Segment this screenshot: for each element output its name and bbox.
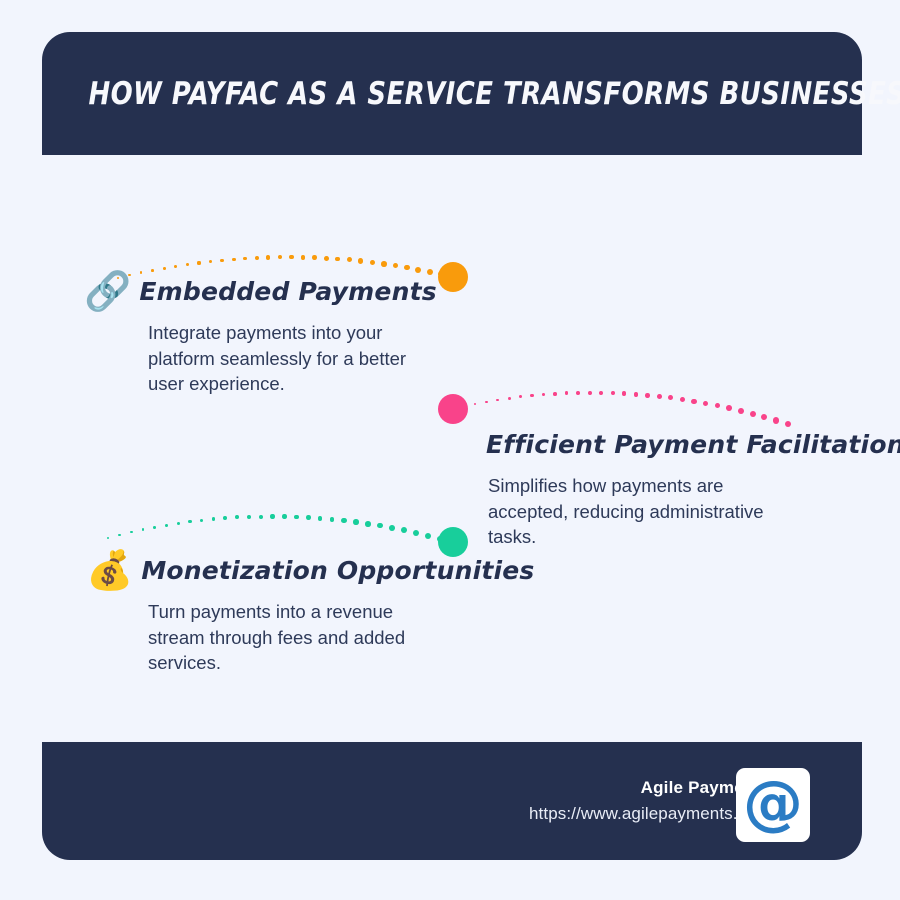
feature-block-embedded-payments: 🔗 Embedded Payments Integrate payments i… — [84, 272, 438, 397]
teal-arc-dot — [306, 515, 311, 520]
orange-node-dot — [438, 262, 468, 292]
teal-arc-dot — [247, 515, 251, 519]
teal-arc-dot — [425, 533, 431, 539]
teal-arc-dot — [413, 530, 419, 536]
pink-arc-dot — [622, 391, 626, 395]
teal-arc-dot — [130, 531, 132, 533]
pink-arc-dot — [715, 403, 721, 409]
footer-text-group: Agile Payments https://www.agilepayments… — [529, 778, 770, 824]
pink-arc-dot — [657, 394, 662, 399]
teal-arc-dot — [259, 515, 263, 519]
pink-arc-dot — [519, 395, 522, 398]
orange-arc-dot — [278, 255, 282, 259]
pink-arc-dot — [599, 391, 603, 395]
feature-title: Efficient Payment Facilitation — [486, 430, 900, 459]
teal-arc-dot — [318, 516, 323, 521]
orange-arc-dot — [174, 265, 177, 268]
orange-arc-dot — [370, 260, 375, 265]
pink-arc-dot — [691, 399, 696, 404]
link-chain-icon: 🔗 — [84, 272, 131, 310]
teal-arc-dot — [282, 514, 286, 518]
teal-arc-dot — [142, 528, 145, 531]
orange-arc-dot — [197, 261, 200, 264]
orange-arc-dot — [266, 255, 270, 259]
teal-arc-dot — [235, 515, 239, 519]
infographic-canvas: HOW PAYFAC AS A SERVICE TRANSFORMS BUSIN… — [0, 0, 900, 900]
orange-arc-dot — [255, 256, 259, 260]
pink-arc-dot — [508, 397, 511, 400]
feature-description: Integrate payments into your platform se… — [148, 320, 438, 397]
teal-arc-dot — [365, 521, 370, 526]
feature-block-efficient-payment-facilitation: Efficient Payment Facilitation ⚙️ Simpli… — [486, 425, 900, 550]
orange-arc-dot — [232, 258, 236, 262]
orange-arc-dot — [186, 263, 189, 266]
orange-arc-dot — [289, 255, 293, 259]
teal-arc-dot — [330, 517, 335, 522]
pink-arc-dot — [474, 403, 476, 405]
pink-arc-dot — [611, 391, 615, 395]
teal-arc-dot — [212, 517, 216, 521]
teal-arc-dot — [165, 524, 168, 527]
pink-arc-dot — [565, 391, 569, 395]
at-sign-icon: @ — [743, 773, 803, 833]
orange-arc-dot — [335, 257, 340, 262]
pink-arc-dot — [645, 393, 650, 398]
feature-heading-row: 🔗 Embedded Payments — [84, 272, 438, 310]
teal-arc-dot — [177, 522, 180, 525]
feature-heading-row: Efficient Payment Facilitation ⚙️ — [486, 425, 900, 463]
teal-arc-dot — [341, 518, 346, 523]
feature-heading-row: 💰 Monetization Opportunities — [86, 551, 535, 589]
footer-website-url[interactable]: https://www.agilepayments.com — [529, 804, 770, 824]
pink-arc-dot — [496, 399, 499, 402]
pink-arc-dot — [703, 401, 708, 406]
orange-arc-dot — [381, 261, 387, 267]
teal-arc-dot — [153, 526, 156, 529]
feature-description: Turn payments into a revenue stream thro… — [148, 599, 438, 676]
pink-arc-dot — [680, 397, 685, 402]
teal-arc-dot — [353, 519, 358, 524]
pink-arc-dot — [750, 411, 756, 417]
pink-arc-dot — [588, 391, 592, 395]
orange-arc-dot — [404, 265, 410, 271]
orange-arc-dot — [243, 257, 247, 261]
teal-arc-dot — [223, 516, 227, 520]
pink-arc-dot — [738, 408, 744, 414]
footer-brand-name: Agile Payments — [529, 778, 770, 798]
teal-arc-dot — [200, 519, 203, 522]
feature-block-monetization-opportunities: 💰 Monetization Opportunities Turn paymen… — [86, 551, 535, 676]
page-title: HOW PAYFAC AS A SERVICE TRANSFORMS BUSIN… — [42, 76, 900, 112]
teal-arc-dot — [118, 534, 120, 536]
teal-arc-dot — [389, 525, 395, 531]
teal-arc-dot — [270, 514, 274, 518]
orange-arc-dot — [163, 267, 166, 270]
orange-arc-dot — [301, 255, 306, 260]
pink-arc-dot — [634, 392, 639, 397]
money-bag-icon: 💰 — [86, 551, 133, 589]
pink-arc-dot — [553, 392, 557, 396]
pink-arc-dot — [530, 394, 533, 397]
teal-arc-dot — [377, 523, 383, 529]
pink-arc-dot — [761, 414, 767, 420]
orange-arc-dot — [347, 257, 352, 262]
pink-arc-dot — [773, 417, 779, 423]
feature-title: Monetization Opportunities — [141, 556, 534, 585]
teal-arc-dot — [107, 537, 109, 539]
orange-arc-dot — [220, 259, 224, 263]
pink-arc-dot — [668, 395, 673, 400]
pink-node-dot — [438, 394, 468, 424]
orange-arc-dot — [312, 255, 317, 260]
pink-arc-dot — [542, 393, 545, 396]
feature-title: Embedded Payments — [139, 277, 436, 306]
pink-arc-dot — [726, 405, 732, 411]
feature-description: Simplifies how payments are accepted, re… — [488, 473, 778, 550]
footer-logo: @ — [736, 768, 810, 842]
orange-arc-dot — [209, 260, 212, 263]
pink-arc-dot — [576, 391, 580, 395]
teal-arc-dot — [401, 527, 407, 533]
teal-arc-dot — [188, 520, 191, 523]
teal-arc-dot — [294, 515, 299, 520]
orange-arc-dot — [324, 256, 329, 261]
header-bar: HOW PAYFAC AS A SERVICE TRANSFORMS BUSIN… — [42, 32, 862, 155]
pink-arc-dot — [485, 401, 488, 404]
orange-arc-dot — [393, 263, 399, 269]
orange-arc-dot — [358, 258, 363, 263]
